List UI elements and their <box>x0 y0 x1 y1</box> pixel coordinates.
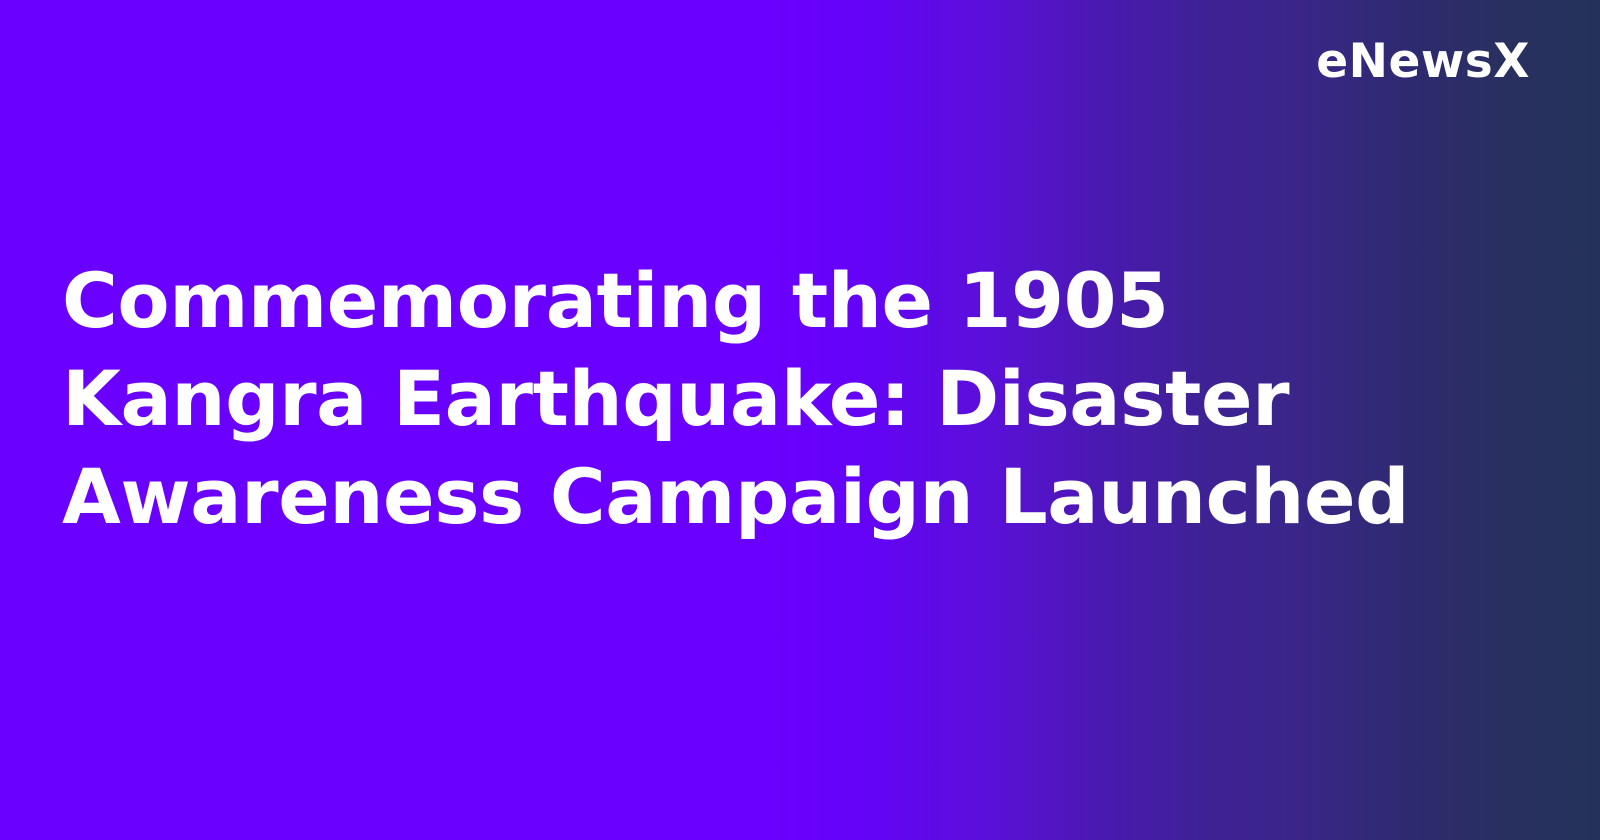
page-title: Commemorating the 1905 Kangra Earthquake… <box>62 252 1442 546</box>
news-card: eNewsX Commemorating the 1905 Kangra Ear… <box>0 0 1600 840</box>
brand-wordmark: eNewsX <box>1316 38 1530 85</box>
brand-logo[interactable]: eNewsX <box>1316 33 1530 89</box>
headline-block: Commemorating the 1905 Kangra Earthquake… <box>62 252 1442 546</box>
